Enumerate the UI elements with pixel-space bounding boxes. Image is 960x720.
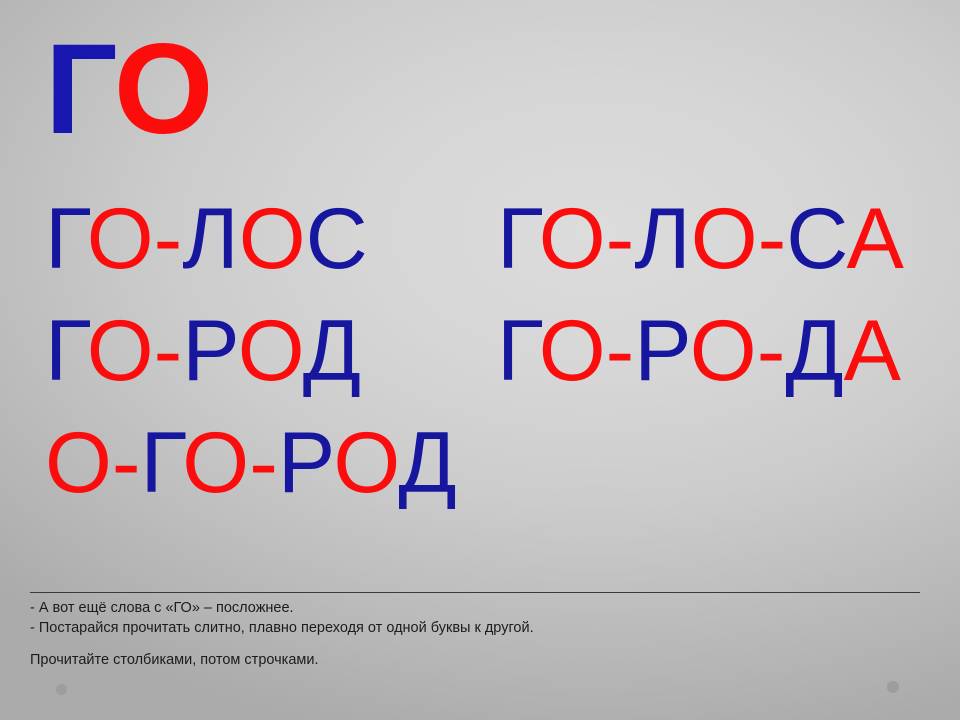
letter-о-0: О [45,415,112,511]
word-ogorod[interactable]: О-ГО-РОД [45,420,457,506]
letter-о-4: О [690,303,757,399]
letter---5: - [758,191,787,287]
letter-с-5: С [306,191,368,287]
letter---2: - [606,191,635,287]
letter---2: - [606,303,635,399]
letter-о-1: О [114,18,212,161]
decorative-dot-right [887,681,899,693]
word-row-3: О-ГО-РОД [0,420,960,532]
letter-л-3: Л [634,191,690,287]
letter---2: - [154,303,183,399]
note-line-3: Прочитайте столбиками, потом строчками. [30,650,930,670]
letter---1: - [112,415,141,511]
letter-а-7: А [847,191,904,287]
letter-р-5: Р [278,415,333,511]
letter-г-0: Г [497,191,539,287]
word-gorod[interactable]: ГО-РОД [45,308,361,394]
note-spacer [30,638,930,650]
letter-о-1: О [539,303,606,399]
letter-о-4: О [238,303,303,399]
decorative-dot-left [56,684,67,695]
letter-о-4: О [691,191,758,287]
slide-canvas: ГО ГО-ЛОС ГО-ЛО-СА ГО-РОД ГО-РО-ДА О-ГО-… [0,0,960,720]
letter-г-0: Г [45,191,87,287]
word-golos[interactable]: ГО-ЛОС [45,196,368,282]
letter-л-3: Л [182,191,238,287]
letter-г-0: Г [45,303,87,399]
letter---2: - [154,191,183,287]
letter-о-4: О [239,191,306,287]
notes-block: - А вот ещё слова с «ГО» – посложнее. - … [30,598,930,670]
letter-о-1: О [539,191,606,287]
word-golosa[interactable]: ГО-ЛО-СА [497,196,904,282]
word-row-2: ГО-РОД ГО-РО-ДА [0,308,960,420]
letter-д-5: Д [303,303,361,399]
letter-о-6: О [333,415,398,511]
letter---4: - [249,415,278,511]
notes-divider [30,592,920,593]
letter-г-2: Г [141,415,183,511]
note-line-1: - А вот ещё слова с «ГО» – посложнее. [30,598,930,618]
letter-г-0: Г [45,18,114,161]
letter-г-0: Г [497,303,539,399]
word-goroda[interactable]: ГО-РО-ДА [497,308,901,394]
letter-д-6: Д [785,303,843,399]
letter-р-3: Р [182,303,237,399]
letter-о-1: О [87,303,154,399]
letter-а-7: А [844,303,901,399]
slide-title: ГО [45,26,211,154]
letter---5: - [757,303,786,399]
letter-о-3: О [182,415,249,511]
word-grid: ГО-ЛОС ГО-ЛО-СА ГО-РОД ГО-РО-ДА О-ГО-РОД [0,196,960,532]
letter-о-1: О [87,191,154,287]
letter-с-6: С [786,191,846,287]
letter-р-3: Р [634,303,689,399]
word-row-1: ГО-ЛОС ГО-ЛО-СА [0,196,960,308]
note-line-2: - Постарайся прочитать слитно, плавно пе… [30,618,930,638]
letter-д-7: Д [398,415,456,511]
